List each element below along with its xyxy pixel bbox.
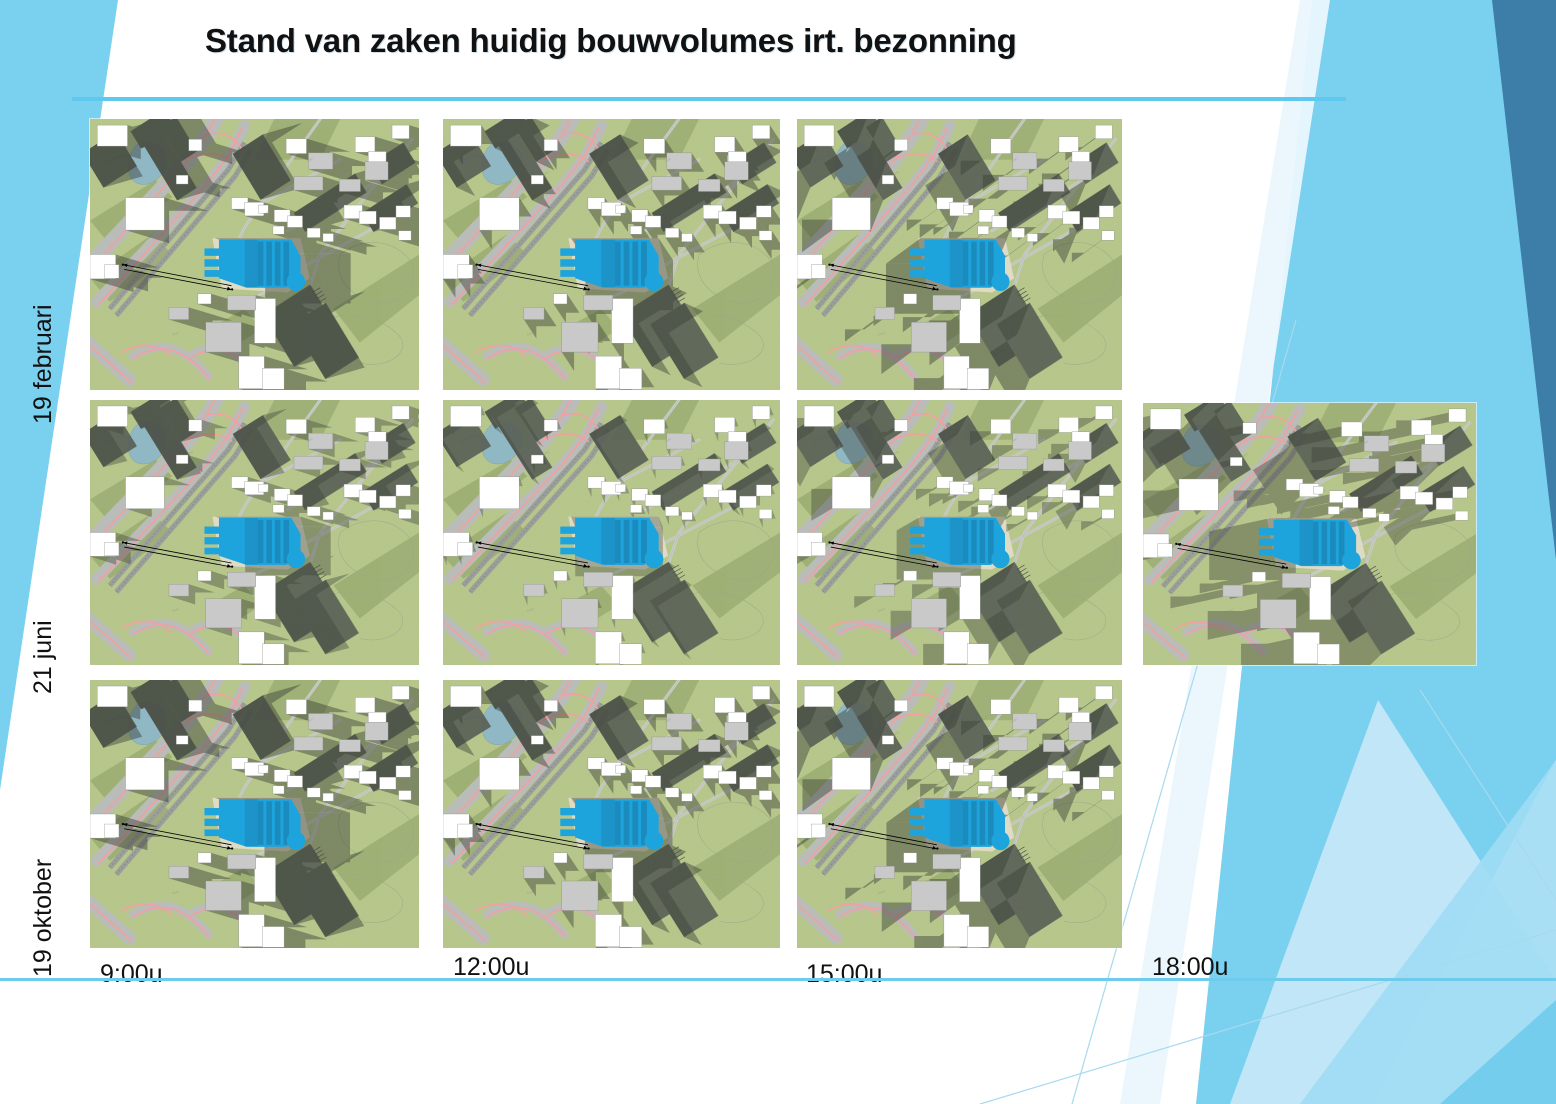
deco-bottom-pale-2 xyxy=(1300,760,1556,1104)
map-panel-juni-1800[interactable]: Weg Laan Straat Dreef xyxy=(1143,403,1476,665)
deco-hairline-c xyxy=(1420,690,1556,900)
title-underline-rule xyxy=(72,97,1346,101)
deco-right-dark-band xyxy=(1468,0,1556,560)
map-panel-feb-0900[interactable]: Weg Laan Straat Dreef xyxy=(90,119,419,390)
column-label-1500: 15:00u xyxy=(806,960,882,989)
map-panel-juni-1200[interactable]: Weg Laan Straat Dreef xyxy=(443,400,780,665)
row-label-21-juni: 21 juni xyxy=(29,620,58,694)
slide-title: Stand van zaken huidig bouwvolumes irt. … xyxy=(205,22,1017,60)
deco-bottom-pale-1 xyxy=(1230,700,1556,1104)
row-label-19-februari: 19 februari xyxy=(29,304,58,424)
deco-hairline-b xyxy=(980,930,1556,1104)
map-panel-feb-1200[interactable]: Weg Laan Straat Dreef xyxy=(443,119,780,390)
row-label-19-oktober: 19 oktober xyxy=(29,859,58,977)
map-panel-juni-1500[interactable]: Weg Laan Straat Dreef xyxy=(797,400,1122,665)
map-panel-okt-1500[interactable]: Weg Laan Straat Dreef xyxy=(797,680,1122,948)
map-panel-feb-1500[interactable]: Weg Laan Straat Dreef xyxy=(797,119,1122,390)
column-label-0900: 9:00u xyxy=(100,960,163,989)
presentation-slide: Stand van zaken huidig bouwvolumes irt. … xyxy=(0,0,1556,1104)
deco-bottom-pale-3 xyxy=(1440,1000,1556,1104)
map-panel-okt-0900[interactable]: Weg Laan Straat Dreef xyxy=(90,680,419,948)
map-panel-juni-0900[interactable]: Weg Laan Straat Dreef xyxy=(90,400,419,665)
map-panel-okt-1200[interactable]: Weg Laan Straat Dreef xyxy=(443,680,780,948)
footer-rule xyxy=(0,978,1556,981)
